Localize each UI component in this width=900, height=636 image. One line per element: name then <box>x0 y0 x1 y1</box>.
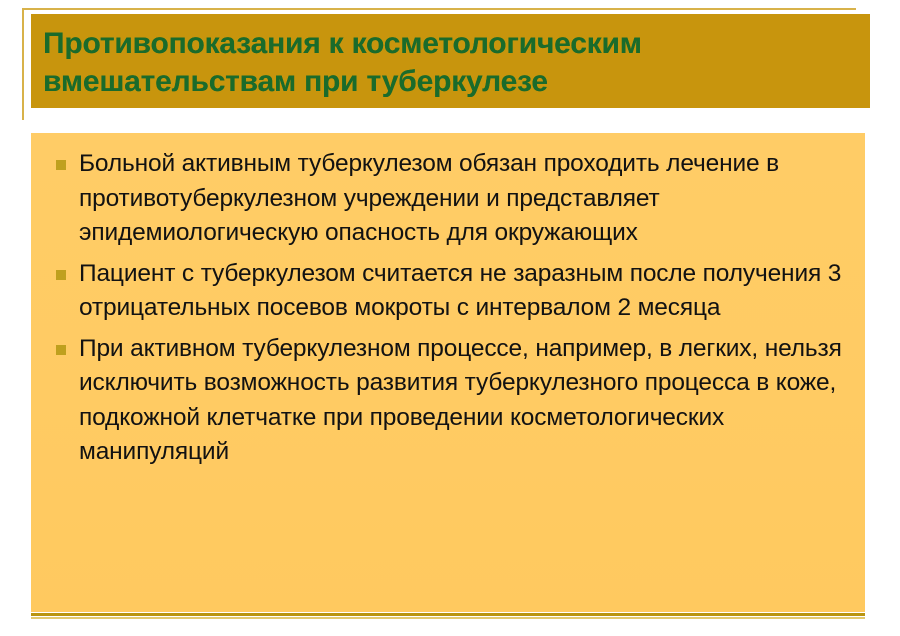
list-item-text: Пациент с туберкулезом считается не зара… <box>79 257 849 326</box>
list-item-text: При активном туберкулезном процессе, нап… <box>79 332 849 470</box>
list-item-text: Больной активным туберкулезом обязан про… <box>79 147 849 251</box>
slide-title: Противопоказания к косметологическим вме… <box>43 25 870 101</box>
square-bullet-icon <box>56 345 66 355</box>
frame-top-rule <box>22 8 856 10</box>
bottom-rule-light <box>31 617 865 619</box>
bottom-rule-dark <box>31 613 865 616</box>
frame-left-rule <box>22 8 24 120</box>
slide: Противопоказания к косметологическим вме… <box>0 0 900 636</box>
square-bullet-icon <box>56 160 66 170</box>
list-item: При активном туберкулезном процессе, нап… <box>47 332 849 470</box>
square-bullet-icon <box>56 270 66 280</box>
bullet-list: Больной активным туберкулезом обязан про… <box>47 147 849 470</box>
slide-content-panel: Больной активным туберкулезом обязан про… <box>31 133 865 612</box>
list-item: Пациент с туберкулезом считается не зара… <box>47 257 849 326</box>
slide-title-bar: Противопоказания к косметологическим вме… <box>31 14 870 108</box>
list-item: Больной активным туберкулезом обязан про… <box>47 147 849 251</box>
